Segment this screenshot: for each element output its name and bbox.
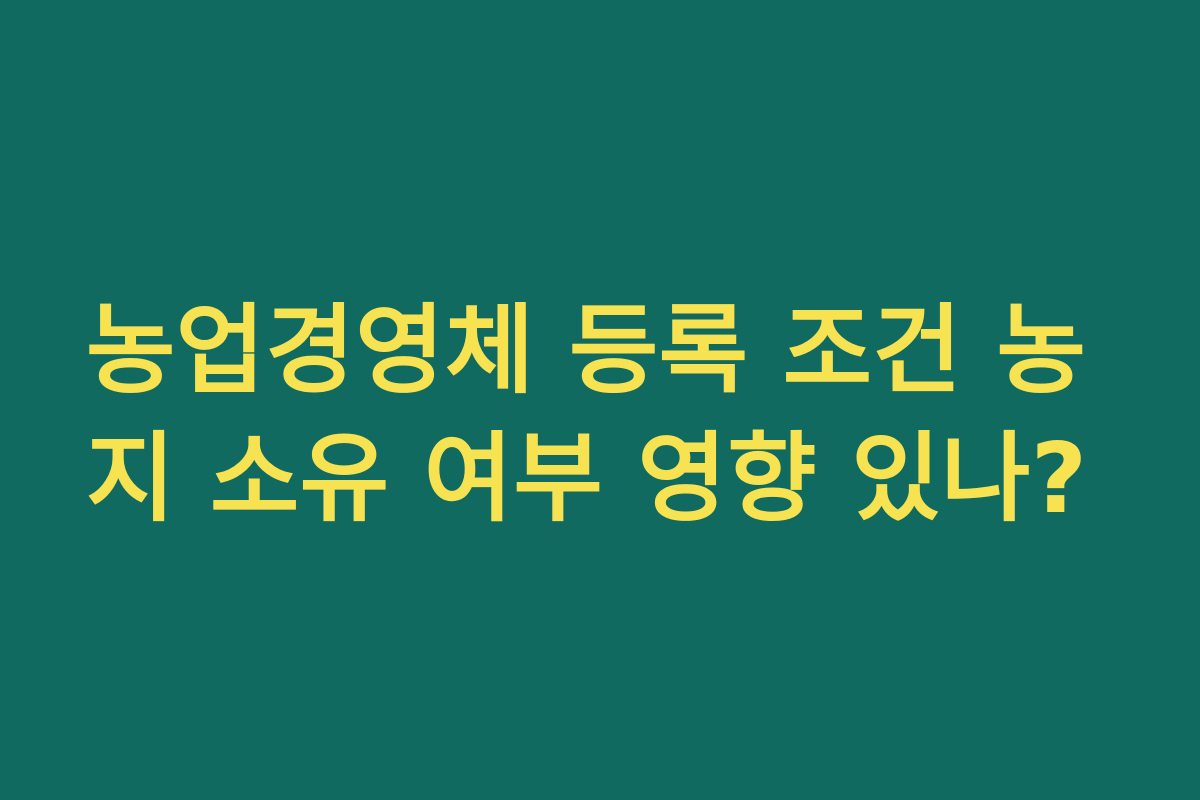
headline-line-1: 농업경영체 등록 조건 농 [86,287,1126,415]
headline-line-2: 지 소유 여부 영향 있나? [86,415,1126,543]
headline-block: 농업경영체 등록 조건 농 지 소유 여부 영향 있나? [86,287,1126,543]
thumbnail-card: 농업경영체 등록 조건 농 지 소유 여부 영향 있나? [0,0,1200,800]
